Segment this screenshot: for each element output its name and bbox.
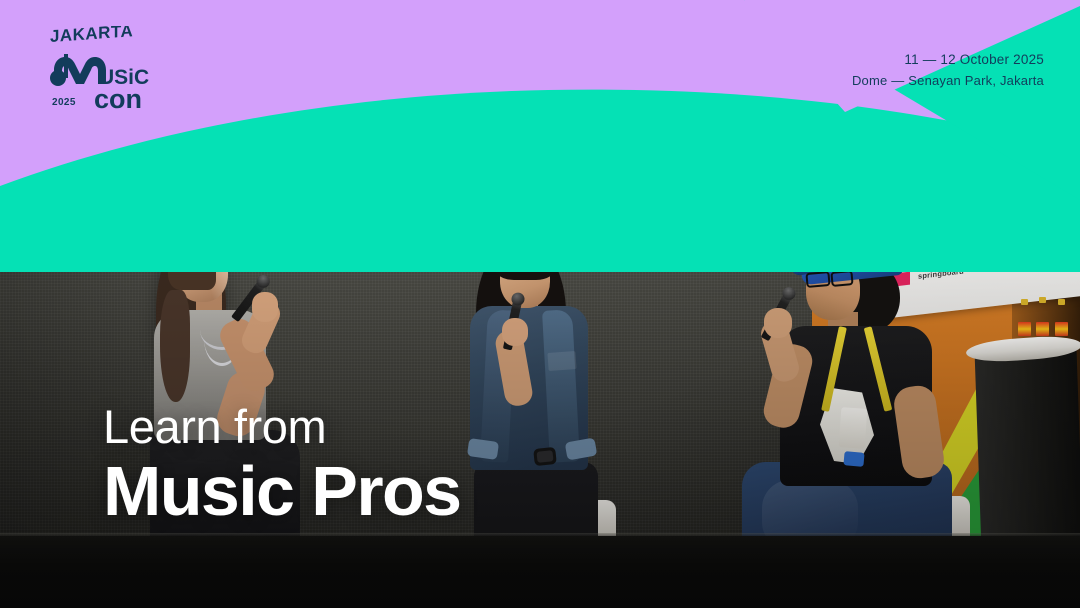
event-poster: IN COLLABORATION RecordStore DayIndonesi…: [0, 0, 1080, 608]
headline-line-2: Music Pros: [103, 456, 460, 526]
event-dates: 11 — 12 October 2025: [852, 50, 1044, 71]
poster-headline: Learn from Music Pros: [103, 403, 460, 526]
logo-con-text: con: [94, 84, 142, 112]
event-info-block: 11 — 12 October 2025 Dome — Senayan Park…: [852, 50, 1044, 91]
logo-year-text: 2025: [52, 97, 76, 108]
headline-line-1: Learn from: [103, 403, 460, 450]
logo-jakarta-text: JAKARTA: [50, 26, 133, 46]
jakarta-music-con-logo[interactable]: JAKARTA USiC con 2025: [36, 26, 166, 112]
logo-note-stem: [64, 54, 68, 78]
event-venue: Dome — Senayan Park, Jakarta: [852, 71, 1044, 91]
logo-note-head: [50, 70, 66, 86]
